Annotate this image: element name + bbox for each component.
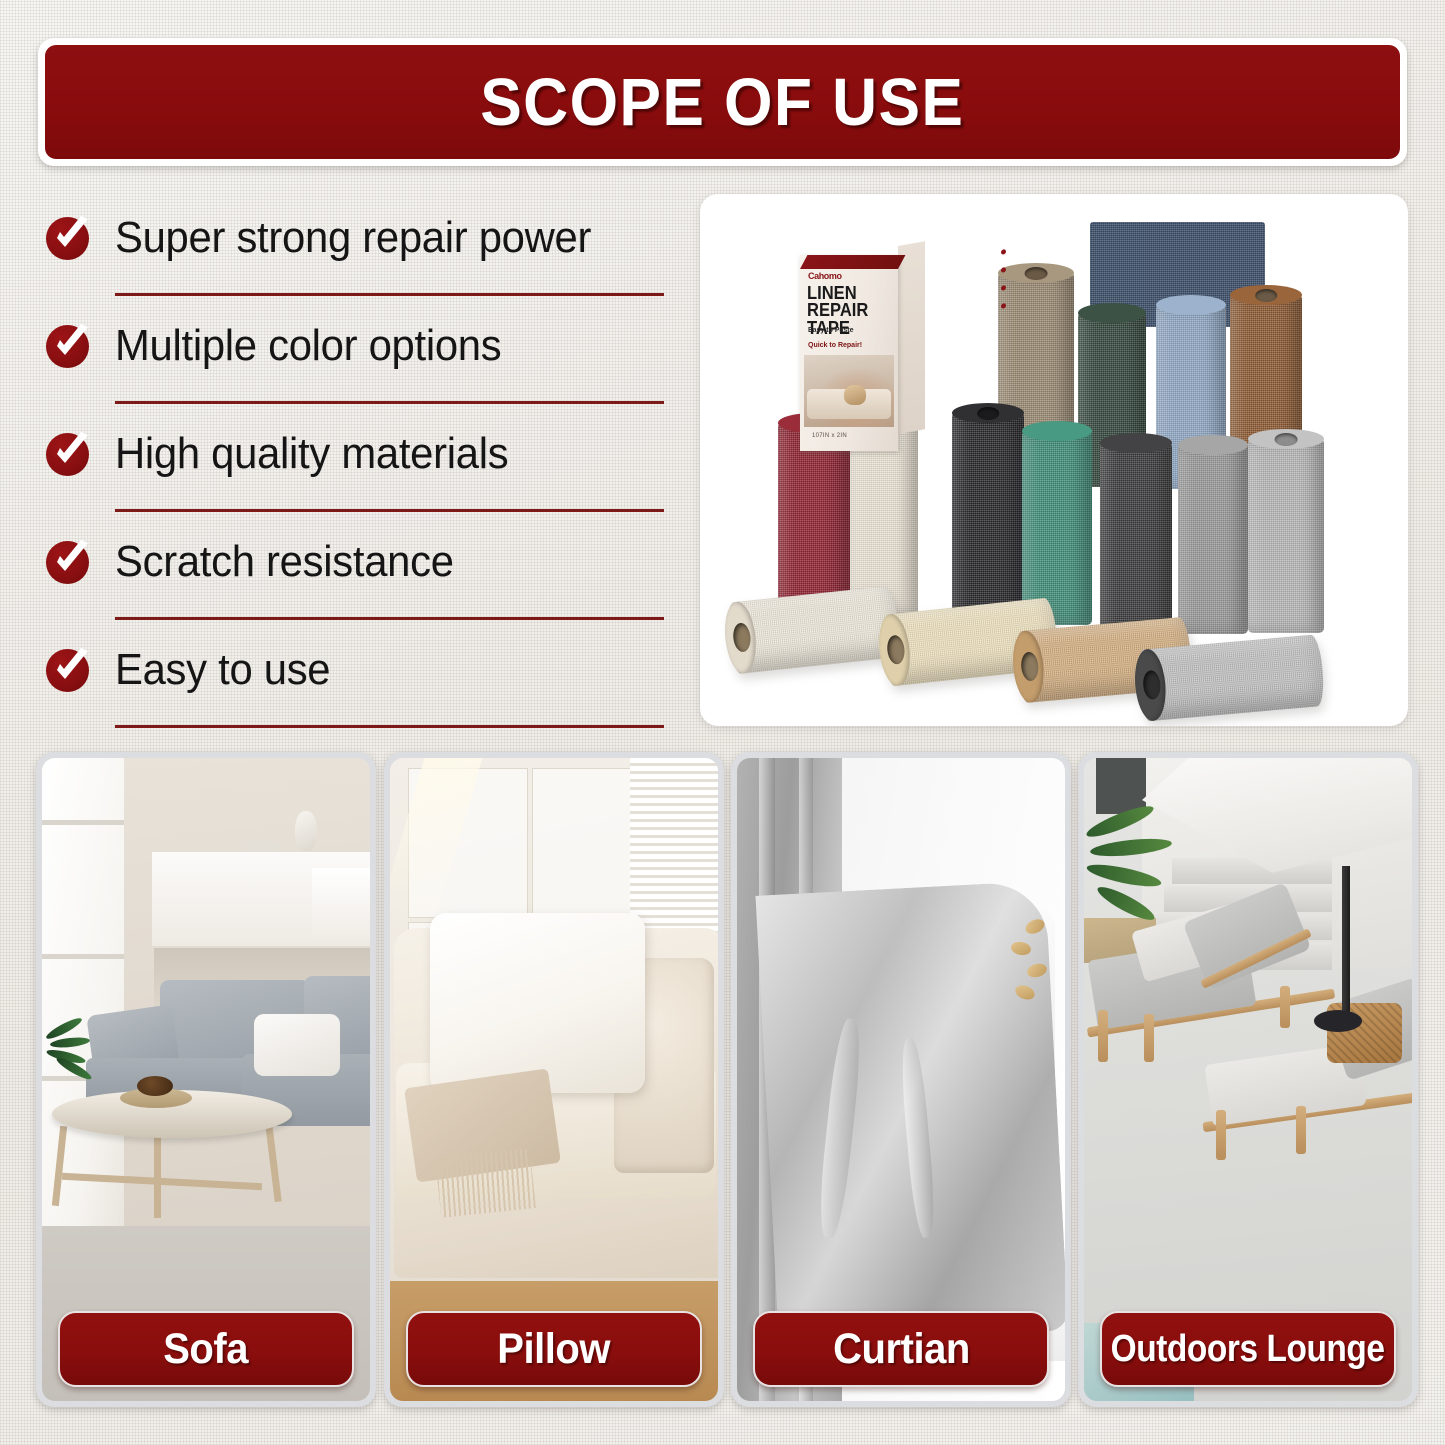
feature-separator (115, 509, 664, 512)
card-label-pillow: Pillow (406, 1311, 702, 1387)
box-badge-quick-to-repair: Quick to Repair! (808, 342, 862, 349)
card-label-text: Curtian (833, 1325, 970, 1374)
use-case-card-sofa[interactable]: Sofa (36, 752, 376, 1407)
product-photo-panel: Cahomo LINEN REPAIR TAPE Easy to Paste Q… (700, 194, 1408, 726)
box-size-text: 107IN x 2IN (812, 433, 847, 439)
use-case-photo-pillow: Pillow (390, 758, 718, 1401)
feature-line: High quality materials (44, 412, 674, 496)
use-case-photo-sofa: Sofa (42, 758, 370, 1401)
tape-roll-off-white-lying (725, 585, 902, 674)
check-circle-icon (44, 322, 92, 370)
feature-line: Multiple color options (44, 304, 674, 388)
tape-roll-teal (1022, 430, 1092, 625)
card-label-outdoors-lounge: Outdoors Lounge (1100, 1311, 1396, 1387)
feature-label: Super strong repair power (115, 213, 591, 263)
use-case-card-curtain[interactable]: Curtian (731, 752, 1071, 1407)
check-circle-icon (44, 538, 92, 586)
feature-label: Multiple color options (115, 321, 501, 371)
feature-separator (115, 293, 664, 296)
feature-separator (115, 725, 664, 728)
banner-inner: SCOPE OF USE (45, 45, 1400, 159)
card-label-text: Outdoors Lounge (1111, 1328, 1385, 1371)
feature-item-2: High quality materials (44, 412, 674, 520)
box-front-panel: Cahomo LINEN REPAIR TAPE Easy to Paste Q… (800, 255, 898, 451)
card-label-text: Sofa (164, 1325, 249, 1374)
feature-label: High quality materials (115, 429, 508, 479)
use-case-card-outdoors-lounge[interactable]: Outdoors Lounge (1078, 752, 1418, 1407)
tape-roll-black (952, 412, 1024, 617)
box-side-panel (898, 241, 925, 434)
brand-logo: Cahomo (808, 271, 842, 281)
check-circle-icon (44, 214, 92, 262)
scene-pillow-chair (390, 758, 718, 1401)
box-side-bullets (1001, 249, 1006, 322)
box-badge-easy-to-paste: Easy to Paste (808, 327, 854, 334)
box-top-flap (800, 255, 905, 269)
scope-of-use-banner: SCOPE OF USE (38, 38, 1407, 166)
check-circle-icon (44, 646, 92, 694)
check-circle-icon (44, 430, 92, 478)
feature-item-1: Multiple color options (44, 304, 674, 412)
card-label-curtain: Curtian (753, 1311, 1049, 1387)
product-box: Cahomo LINEN REPAIR TAPE Easy to Paste Q… (800, 246, 925, 451)
feature-list: Super strong repair power Multiple color… (44, 196, 674, 736)
card-label-text: Pillow (498, 1325, 611, 1374)
scene-curtain (737, 758, 1065, 1401)
feature-separator (115, 617, 664, 620)
card-label-sofa: Sofa (58, 1311, 354, 1387)
feature-separator (115, 401, 664, 404)
page-title: SCOPE OF USE (480, 64, 964, 141)
tape-roll-red (778, 422, 850, 617)
feature-item-0: Super strong repair power (44, 196, 674, 304)
feature-label: Scratch resistance (115, 537, 454, 587)
feature-line: Easy to use (44, 628, 674, 712)
feature-item-3: Scratch resistance (44, 520, 674, 628)
tape-rolls-group: Cahomo LINEN REPAIR TAPE Easy to Paste Q… (700, 194, 1408, 726)
feature-label: Easy to use (115, 645, 330, 695)
box-lifestyle-photo (804, 355, 894, 427)
tape-roll-silver-gray-lying (1135, 634, 1326, 722)
use-case-photo-curtain: Curtian (737, 758, 1065, 1401)
scene-living-room (42, 758, 370, 1401)
tape-roll-medium-gray (1178, 444, 1248, 634)
feature-item-4: Easy to use (44, 628, 674, 736)
feature-line: Super strong repair power (44, 196, 674, 280)
use-case-card-pillow[interactable]: Pillow (384, 752, 724, 1407)
tape-roll-light-gray (1248, 438, 1324, 633)
scene-poolside-loungers (1084, 758, 1412, 1401)
tape-roll-charcoal (1100, 442, 1172, 632)
feature-line: Scratch resistance (44, 520, 674, 604)
use-case-photo-outdoors: Outdoors Lounge (1084, 758, 1412, 1401)
